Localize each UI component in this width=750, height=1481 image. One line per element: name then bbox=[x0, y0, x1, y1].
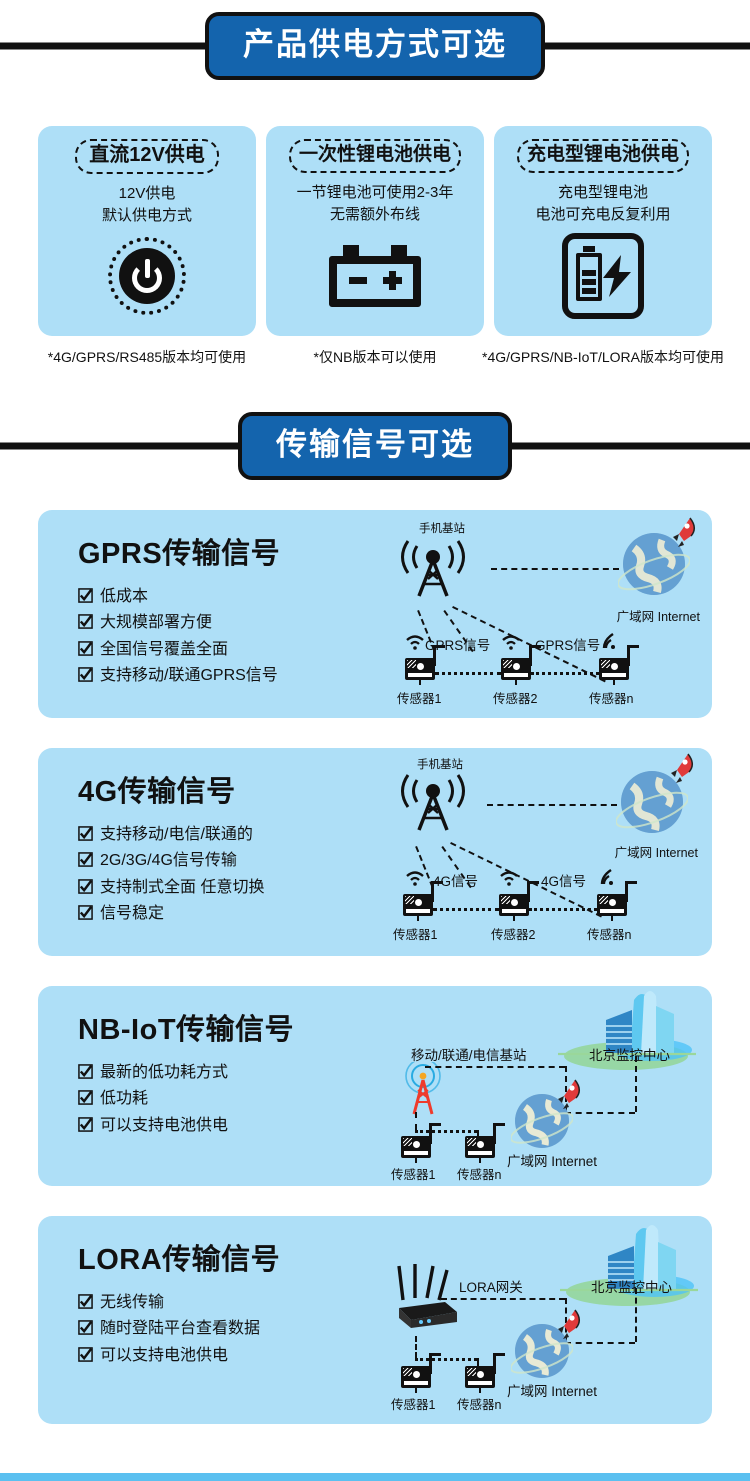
list-item: 低功耗 bbox=[78, 1086, 383, 1112]
feature-list: 无线传输 随时登陆平台查看数据 可以支持电池供电 bbox=[78, 1290, 383, 1369]
power-card-rechargeable-lithium: 充电型锂电池供电 充电型锂电池 电池可充电反复利用 *4G/GPRS/NB-Io… bbox=[494, 126, 712, 368]
list-item: 支持制式全面 任意切换 bbox=[78, 875, 383, 901]
check-icon bbox=[78, 1347, 93, 1362]
power-cards-row: 直流12V供电 12V供电 默认供电方式 *4G/GPRS/RS485版本均可使… bbox=[0, 126, 750, 368]
signal-banner-label: 传输信号可选 bbox=[238, 412, 512, 480]
sensor-label: 传感器1 bbox=[393, 924, 437, 943]
power-button-icon bbox=[108, 237, 186, 315]
monitoring-center-label: 北京监控中心 bbox=[589, 1044, 670, 1064]
check-icon bbox=[78, 641, 93, 656]
sensor-label: 传感器1 bbox=[391, 1164, 435, 1183]
sensor-label: 传感器2 bbox=[491, 924, 535, 943]
check-icon bbox=[78, 852, 93, 867]
wifi-icon bbox=[501, 634, 521, 650]
rechargeable-battery-icon bbox=[562, 233, 644, 319]
bottom-accent-bar bbox=[0, 1473, 750, 1481]
list-item: 随时登陆平台查看数据 bbox=[78, 1316, 383, 1342]
internet-label: 广域网 Internet bbox=[615, 842, 698, 861]
fourg-diagram: 手机基站 广域网 Internet 4G信号 bbox=[383, 748, 712, 956]
sensor-device bbox=[401, 1366, 431, 1392]
power-card-desc: 一节锂电池可使用2-3年 无需额外布线 bbox=[297, 182, 454, 226]
feature-list: 最新的低功耗方式 低功耗 可以支持电池供电 bbox=[78, 1060, 383, 1139]
power-section-banner: 产品供电方式可选 bbox=[0, 0, 750, 92]
list-item: 全国信号覆盖全面 bbox=[78, 637, 383, 663]
list-item: 可以支持电池供电 bbox=[78, 1343, 383, 1369]
monitoring-center-label: 北京监控中心 bbox=[591, 1276, 672, 1296]
city-skyline-icon bbox=[550, 1218, 700, 1310]
list-item: 无线传输 bbox=[78, 1290, 383, 1316]
list-item: 大规模部署方便 bbox=[78, 610, 383, 636]
sensor-label: 传感器1 bbox=[391, 1394, 435, 1413]
check-icon bbox=[78, 879, 93, 894]
power-card-title: 充电型锂电池供电 bbox=[517, 139, 689, 173]
battery-icon bbox=[329, 245, 421, 307]
list-item: 支持移动/电信/联通的 bbox=[78, 822, 383, 848]
power-card-desc: 充电型锂电池 电池可充电反复利用 bbox=[535, 182, 670, 226]
signal-label: GPRS信号 bbox=[535, 634, 600, 654]
power-card-primary-lithium: 一次性锂电池供电 一节锂电池可使用2-3年 无需额外布线 *仅NB版本可以使用 bbox=[266, 126, 484, 368]
rocket-icon bbox=[553, 1308, 583, 1340]
list-item: 支持移动/联通GPRS信号 bbox=[78, 663, 383, 689]
sensor-device bbox=[599, 658, 629, 684]
wifi-icon bbox=[405, 870, 425, 886]
nbiot-diagram: 移动/联通/电信基站 北京监控中心 传感器1 传感器n bbox=[383, 986, 712, 1186]
signal-title: LORA传输信号 bbox=[78, 1236, 383, 1278]
check-icon bbox=[78, 1320, 93, 1335]
sensor-device bbox=[465, 1136, 495, 1162]
power-card-desc: 12V供电 默认供电方式 bbox=[102, 183, 192, 227]
gprs-diagram: 手机基站 广域网 Internet bbox=[383, 510, 712, 718]
wifi-icon bbox=[405, 634, 425, 650]
sensor-label: 传感器n bbox=[457, 1164, 501, 1183]
base-station-label: 手机基站 bbox=[419, 520, 465, 536]
signal-card-lora: LORA传输信号 无线传输 随时登陆平台查看数据 可以支持电池供电 bbox=[38, 1216, 712, 1424]
power-card-title: 一次性锂电池供电 bbox=[289, 139, 461, 173]
list-item: 低成本 bbox=[78, 584, 383, 610]
signal-section-banner: 传输信号可选 bbox=[0, 400, 750, 492]
power-card-dc12v: 直流12V供电 12V供电 默认供电方式 *4G/GPRS/RS485版本均可使… bbox=[38, 126, 256, 368]
sensor-device bbox=[499, 894, 529, 920]
tower-internet-link bbox=[491, 568, 619, 570]
cell-tower-icon bbox=[397, 770, 507, 860]
check-icon bbox=[78, 588, 93, 603]
internet-label: 广域网 Internet bbox=[617, 606, 700, 625]
check-icon bbox=[78, 1117, 93, 1132]
feature-list: 支持移动/电信/联通的 2G/3G/4G信号传输 支持制式全面 任意切换 信号稳… bbox=[78, 822, 383, 928]
sensor-label: 传感器n bbox=[457, 1394, 501, 1413]
feature-list: 低成本 大规模部署方便 全国信号覆盖全面 支持移动/联通GPRS信号 bbox=[78, 584, 383, 690]
lora-diagram: LORA网关 北京监控中心 传感器1 传感器n bbox=[383, 1216, 712, 1424]
power-card-note: *4G/GPRS/NB-IoT/LORA版本均可使用 bbox=[481, 347, 726, 368]
gateway-label: LORA网关 bbox=[459, 1276, 523, 1296]
check-icon bbox=[78, 826, 93, 841]
tower-internet-link bbox=[487, 804, 617, 806]
wifi-icon bbox=[499, 870, 519, 886]
list-item: 最新的低功耗方式 bbox=[78, 1060, 383, 1086]
rocket-icon bbox=[553, 1078, 583, 1110]
power-card-note: *仅NB版本可以使用 bbox=[253, 347, 498, 368]
sensor-device bbox=[501, 658, 531, 684]
cell-tower-icon bbox=[397, 536, 507, 626]
list-item: 可以支持电池供电 bbox=[78, 1113, 383, 1139]
lightning-bolt-icon bbox=[601, 255, 635, 297]
power-banner-label: 产品供电方式可选 bbox=[205, 12, 545, 80]
sensor-device bbox=[403, 894, 433, 920]
cell-tower-icon bbox=[395, 1062, 455, 1132]
sensor-device bbox=[405, 658, 435, 684]
signal-bars-icon bbox=[599, 632, 619, 650]
internet-label: 广域网 Internet bbox=[507, 1150, 597, 1170]
sensor-device bbox=[401, 1136, 431, 1162]
signal-bars-icon bbox=[597, 868, 617, 886]
signal-title: GPRS传输信号 bbox=[78, 530, 383, 572]
check-icon bbox=[78, 905, 93, 920]
check-icon bbox=[78, 1090, 93, 1105]
signal-title: NB-IoT传输信号 bbox=[78, 1006, 383, 1048]
check-icon bbox=[78, 1294, 93, 1309]
sensor-label: 传感器n bbox=[587, 924, 631, 943]
power-card-title: 直流12V供电 bbox=[75, 139, 219, 174]
signal-title: 4G传输信号 bbox=[78, 768, 383, 810]
sensor-device bbox=[465, 1366, 495, 1392]
sensor-device bbox=[597, 894, 627, 920]
sensor-label: 传感器1 bbox=[397, 688, 441, 707]
check-icon bbox=[78, 667, 93, 682]
internet-label: 广域网 Internet bbox=[507, 1380, 597, 1400]
sensor-label: 传感器2 bbox=[493, 688, 537, 707]
base-station-label: 移动/联通/电信基站 bbox=[411, 1044, 527, 1064]
signal-card-4g: 4G传输信号 支持移动/电信/联通的 2G/3G/4G信号传输 支持制式全面 任… bbox=[38, 748, 712, 956]
power-card-note: *4G/GPRS/RS485版本均可使用 bbox=[25, 347, 270, 368]
lora-gateway-icon bbox=[391, 1262, 467, 1348]
rocket-icon bbox=[666, 752, 696, 784]
signal-label: 4G信号 bbox=[433, 870, 478, 890]
sensor-label: 传感器n bbox=[589, 688, 633, 707]
list-item: 信号稳定 bbox=[78, 901, 383, 927]
signal-card-nbiot: NB-IoT传输信号 最新的低功耗方式 低功耗 可以支持电池供电 bbox=[38, 986, 712, 1186]
signal-card-gprs: GPRS传输信号 低成本 大规模部署方便 全国信号覆盖全面 支持移动/联通GPR… bbox=[38, 510, 712, 718]
check-icon bbox=[78, 1064, 93, 1079]
check-icon bbox=[78, 614, 93, 629]
signal-label: 4G信号 bbox=[541, 870, 586, 890]
rocket-icon bbox=[668, 516, 698, 548]
list-item: 2G/3G/4G信号传输 bbox=[78, 848, 383, 874]
